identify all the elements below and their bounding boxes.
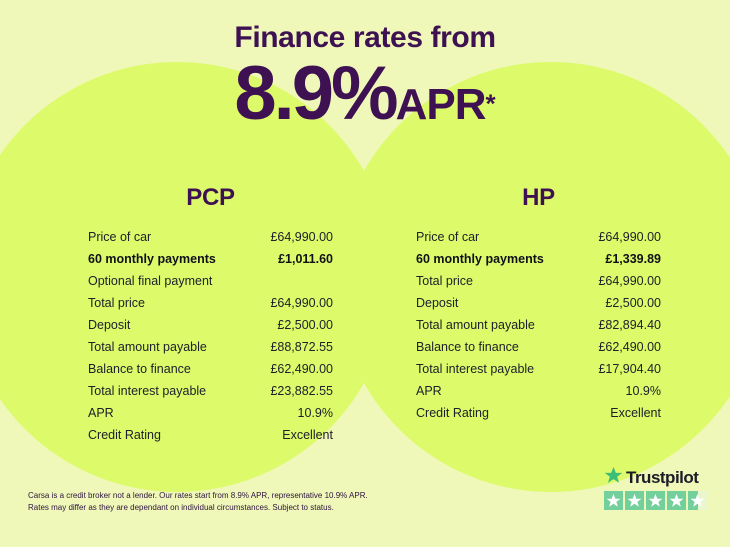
table-row: APR10.9% bbox=[416, 384, 661, 406]
disclaimer-line-2: Rates may differ as they are dependant o… bbox=[28, 502, 448, 514]
row-label: Balance to finance bbox=[88, 362, 191, 376]
row-label: Total amount payable bbox=[416, 318, 535, 332]
table-title-hp: HP bbox=[416, 184, 661, 212]
row-label: APR bbox=[416, 384, 442, 398]
row-value: £62,490.00 bbox=[598, 340, 661, 354]
row-label: Deposit bbox=[416, 296, 458, 310]
row-label: 60 monthly payments bbox=[416, 252, 544, 266]
row-label: APR bbox=[88, 406, 114, 420]
row-label: Total interest payable bbox=[416, 362, 534, 376]
row-label: Total price bbox=[88, 296, 145, 310]
table-row: Deposit£2,500.00 bbox=[416, 296, 661, 318]
row-label: Total interest payable bbox=[88, 384, 206, 398]
rate-value: 8.9% bbox=[234, 51, 395, 136]
row-value: £2,500.00 bbox=[277, 318, 333, 332]
disclaimer-line-1: Carsa is a credit broker not a lender. O… bbox=[28, 490, 448, 502]
row-value: 10.9% bbox=[298, 406, 333, 420]
trustpilot-star-icon bbox=[604, 466, 623, 490]
table-row: Price of car£64,990.00 bbox=[88, 230, 333, 252]
row-value: Excellent bbox=[610, 406, 661, 420]
rate-unit: APR bbox=[396, 80, 486, 129]
row-label: Price of car bbox=[88, 230, 151, 244]
row-value: Excellent bbox=[282, 428, 333, 442]
table-row: Credit RatingExcellent bbox=[416, 406, 661, 428]
finance-rates-poster: Finance rates from 8.9%APR* PCP Price of… bbox=[0, 0, 730, 547]
trustpilot-star-box bbox=[667, 491, 686, 510]
disclaimer: Carsa is a credit broker not a lender. O… bbox=[28, 490, 448, 514]
trustpilot-star-box bbox=[625, 491, 644, 510]
row-label: Total price bbox=[416, 274, 473, 288]
table-row: Price of car£64,990.00 bbox=[416, 230, 661, 252]
row-value: £64,990.00 bbox=[270, 296, 333, 310]
row-value: £62,490.00 bbox=[270, 362, 333, 376]
row-label: Price of car bbox=[416, 230, 479, 244]
row-value: £2,500.00 bbox=[605, 296, 661, 310]
table-row: Total interest payable£17,904.40 bbox=[416, 362, 661, 384]
row-value: £1,011.60 bbox=[278, 252, 333, 266]
row-value: £64,990.00 bbox=[270, 230, 333, 244]
row-label: Deposit bbox=[88, 318, 130, 332]
trustpilot-brand: Trustpilot bbox=[604, 468, 712, 488]
table-row: Credit RatingExcellent bbox=[88, 428, 333, 450]
row-value: £88,872.55 bbox=[270, 340, 333, 354]
table-row: Deposit£2,500.00 bbox=[88, 318, 333, 340]
row-label: 60 monthly payments bbox=[88, 252, 216, 266]
table-row: 60 monthly payments£1,339.89 bbox=[416, 252, 661, 274]
table-row: Balance to finance£62,490.00 bbox=[416, 340, 661, 362]
row-value: £23,882.55 bbox=[270, 384, 333, 398]
row-value: £1,339.89 bbox=[605, 252, 661, 266]
table-row: Balance to finance£62,490.00 bbox=[88, 362, 333, 384]
row-value: £64,990.00 bbox=[598, 230, 661, 244]
row-label: Credit Rating bbox=[88, 428, 161, 442]
table-row: Total amount payable£82,894.40 bbox=[416, 318, 661, 340]
table-row: APR10.9% bbox=[88, 406, 333, 428]
trustpilot-wordmark: Trustpilot bbox=[626, 468, 698, 488]
table-row: Optional final payment bbox=[88, 274, 333, 296]
table-row: Total price£64,990.00 bbox=[88, 296, 333, 318]
page-title: Finance rates from bbox=[0, 21, 730, 55]
table-title-pcp: PCP bbox=[88, 184, 333, 212]
trustpilot-rating: Trustpilot bbox=[604, 468, 712, 510]
row-label: Balance to finance bbox=[416, 340, 519, 354]
row-label: Optional final payment bbox=[88, 274, 212, 288]
table-row: Total interest payable£23,882.55 bbox=[88, 384, 333, 406]
row-value: £64,990.00 bbox=[598, 274, 661, 288]
row-value: 10.9% bbox=[626, 384, 661, 398]
finance-table-pcp: PCP Price of car£64,990.0060 monthly pay… bbox=[88, 184, 333, 450]
table-row: Total price£64,990.00 bbox=[416, 274, 661, 296]
table-row: Total amount payable£88,872.55 bbox=[88, 340, 333, 362]
trustpilot-star-box bbox=[646, 491, 665, 510]
finance-table-hp: HP Price of car£64,990.0060 monthly paym… bbox=[416, 184, 661, 428]
asterisk-marker: * bbox=[486, 89, 496, 119]
table-rows-hp: Price of car£64,990.0060 monthly payment… bbox=[416, 230, 661, 428]
trustpilot-star-box bbox=[604, 491, 623, 510]
trustpilot-stars bbox=[604, 491, 712, 510]
row-value: £82,894.40 bbox=[598, 318, 661, 332]
table-row: 60 monthly payments£1,011.60 bbox=[88, 252, 333, 274]
row-value: £17,904.40 bbox=[598, 362, 661, 376]
headline-rate: 8.9%APR* bbox=[0, 56, 730, 132]
trustpilot-star-box bbox=[688, 491, 707, 510]
row-label: Total amount payable bbox=[88, 340, 207, 354]
table-rows-pcp: Price of car£64,990.0060 monthly payment… bbox=[88, 230, 333, 450]
row-label: Credit Rating bbox=[416, 406, 489, 420]
